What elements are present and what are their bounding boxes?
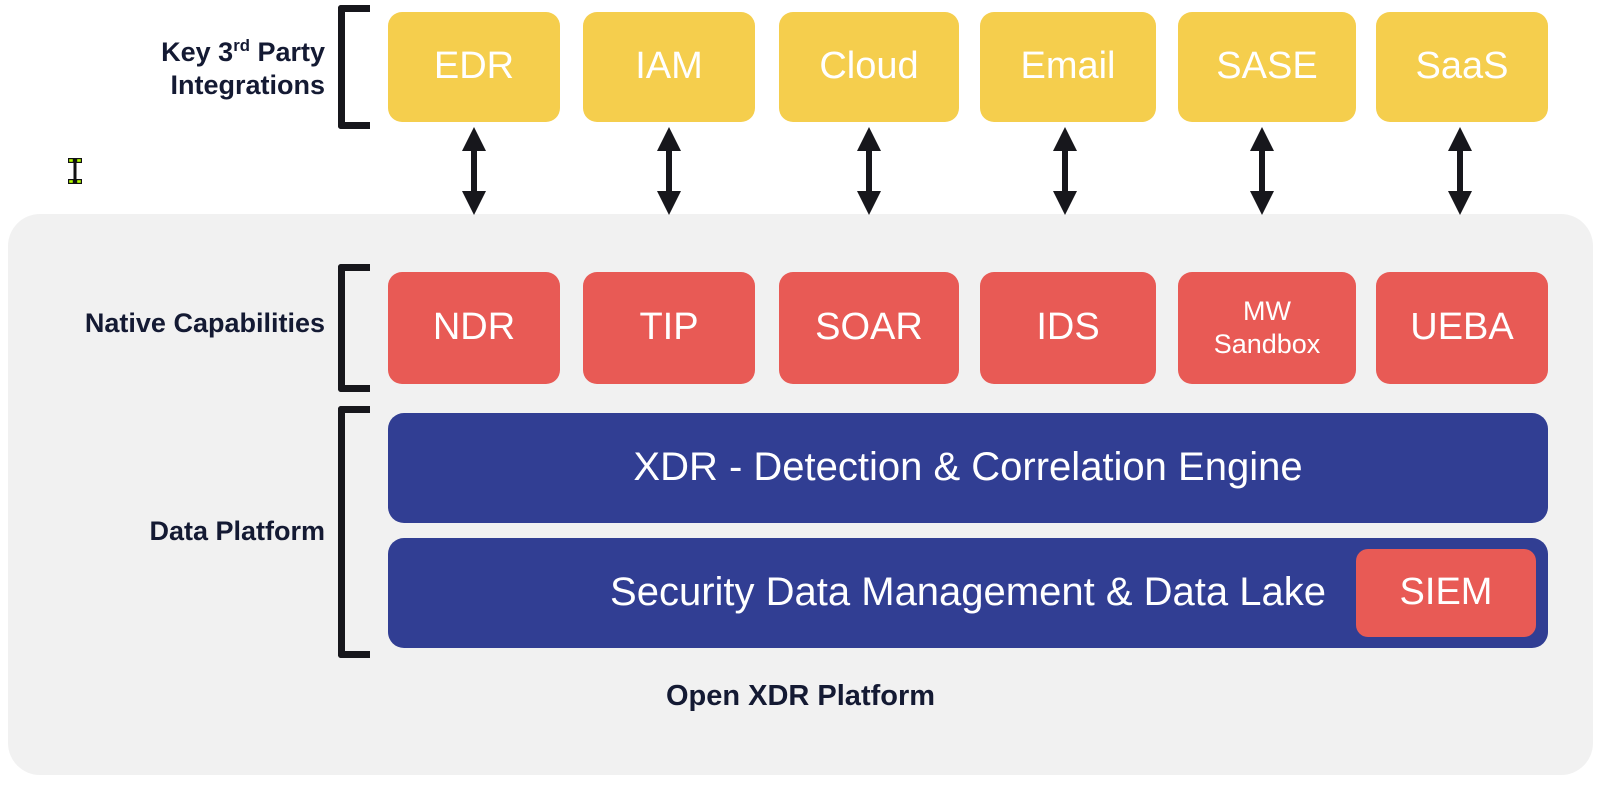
integration-box-cloud-label: Cloud	[819, 46, 918, 87]
platform-bar-xdr-engine[interactable]: XDR - Detection & Correlation Engine	[388, 413, 1548, 523]
capability-box-tip-label: TIP	[639, 307, 698, 348]
integration-box-cloud[interactable]: Cloud	[779, 12, 959, 122]
diagram-canvas: Key 3rd Party Integrations EDR IAM Cloud…	[0, 0, 1601, 789]
platform-bar-security-data-lake[interactable]: Security Data Management & Data Lake SIE…	[388, 538, 1548, 648]
platform-bar-xdr-engine-label: XDR - Detection & Correlation Engine	[633, 446, 1302, 489]
text-ibeam-cursor-icon	[67, 158, 83, 184]
siem-chip-label: SIEM	[1400, 572, 1493, 613]
integration-box-iam[interactable]: IAM	[583, 12, 755, 122]
row-label-integrations-line2: Party	[250, 37, 325, 67]
integration-box-edr[interactable]: EDR	[388, 12, 560, 122]
capability-box-soar[interactable]: SOAR	[779, 272, 959, 384]
connector-arrow-sase	[1249, 127, 1275, 215]
open-xdr-platform-caption: Open XDR Platform	[0, 680, 1601, 713]
connector-arrow-email	[1052, 127, 1078, 215]
integration-box-email[interactable]: Email	[980, 12, 1156, 122]
integration-box-sase-label: SASE	[1216, 46, 1317, 87]
row-label-data-platform: Data Platform	[10, 515, 325, 548]
bracket-data-platform	[338, 406, 370, 658]
capability-box-ndr-label: NDR	[433, 307, 515, 348]
integration-box-saas[interactable]: SaaS	[1376, 12, 1548, 122]
connector-arrow-saas	[1447, 127, 1473, 215]
integration-box-saas-label: SaaS	[1416, 46, 1509, 87]
platform-bar-security-data-lake-label: Security Data Management & Data Lake	[610, 571, 1326, 614]
capability-box-ids[interactable]: IDS	[980, 272, 1156, 384]
row-label-integrations-line1: Key 3	[161, 37, 233, 67]
connector-arrow-cloud	[856, 127, 882, 215]
connector-arrow-iam	[656, 127, 682, 215]
connector-arrow-edr	[461, 127, 487, 215]
capability-box-mw-sandbox[interactable]: MW Sandbox	[1178, 272, 1356, 384]
bracket-native-capabilities	[338, 264, 370, 392]
integration-box-email-label: Email	[1020, 46, 1115, 87]
integration-box-iam-label: IAM	[635, 46, 703, 87]
capability-box-ids-label: IDS	[1036, 307, 1099, 348]
capability-box-soar-label: SOAR	[815, 307, 923, 348]
siem-chip[interactable]: SIEM	[1356, 549, 1536, 637]
capability-box-ndr[interactable]: NDR	[388, 272, 560, 384]
row-label-integrations-line3: Integrations	[170, 70, 325, 100]
integration-box-edr-label: EDR	[434, 46, 514, 87]
integration-box-sase[interactable]: SASE	[1178, 12, 1356, 122]
row-label-integrations: Key 3rd Party Integrations	[40, 36, 325, 102]
row-label-integrations-ordinal: rd	[233, 36, 250, 55]
capability-box-mw-sandbox-line2: Sandbox	[1214, 329, 1321, 359]
capability-box-mw-sandbox-line1: MW	[1243, 296, 1291, 326]
row-label-native-capabilities: Native Capabilities	[10, 307, 325, 340]
capability-box-ueba-label: UEBA	[1410, 307, 1513, 348]
capability-box-ueba[interactable]: UEBA	[1376, 272, 1548, 384]
capability-box-tip[interactable]: TIP	[583, 272, 755, 384]
bracket-integrations	[338, 5, 370, 129]
